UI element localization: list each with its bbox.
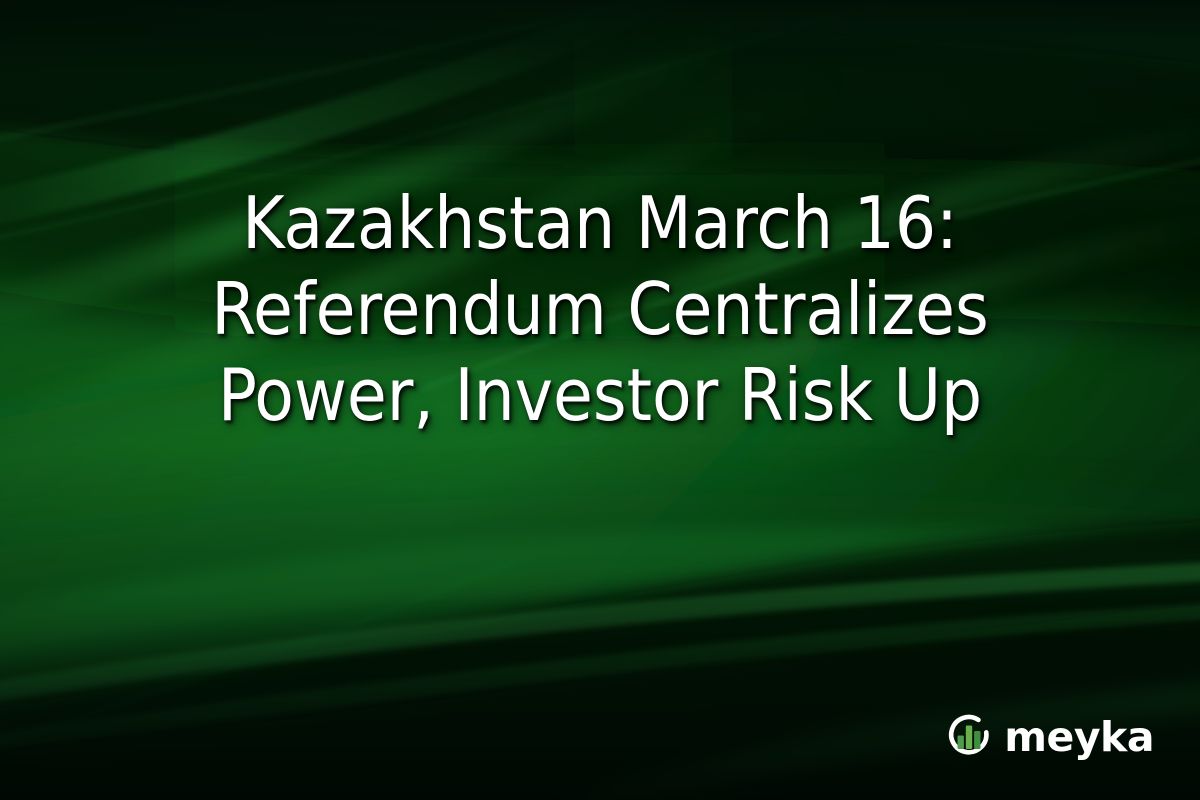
- headline-line-3: Power, Investor Risk Up: [218, 352, 982, 438]
- headline-line-1: Kazakhstan March 16:: [242, 180, 958, 266]
- headline-line-2: Referendum Centralizes: [211, 266, 989, 352]
- headline-block: Kazakhstan March 16: Referendum Centrali…: [0, 180, 1200, 438]
- share-card: Kazakhstan March 16: Referendum Centrali…: [0, 0, 1200, 800]
- brand-wordmark: meyka: [1004, 717, 1154, 758]
- meyka-chart-ring-icon: [943, 710, 995, 762]
- brand-logo[interactable]: meyka: [943, 710, 1154, 762]
